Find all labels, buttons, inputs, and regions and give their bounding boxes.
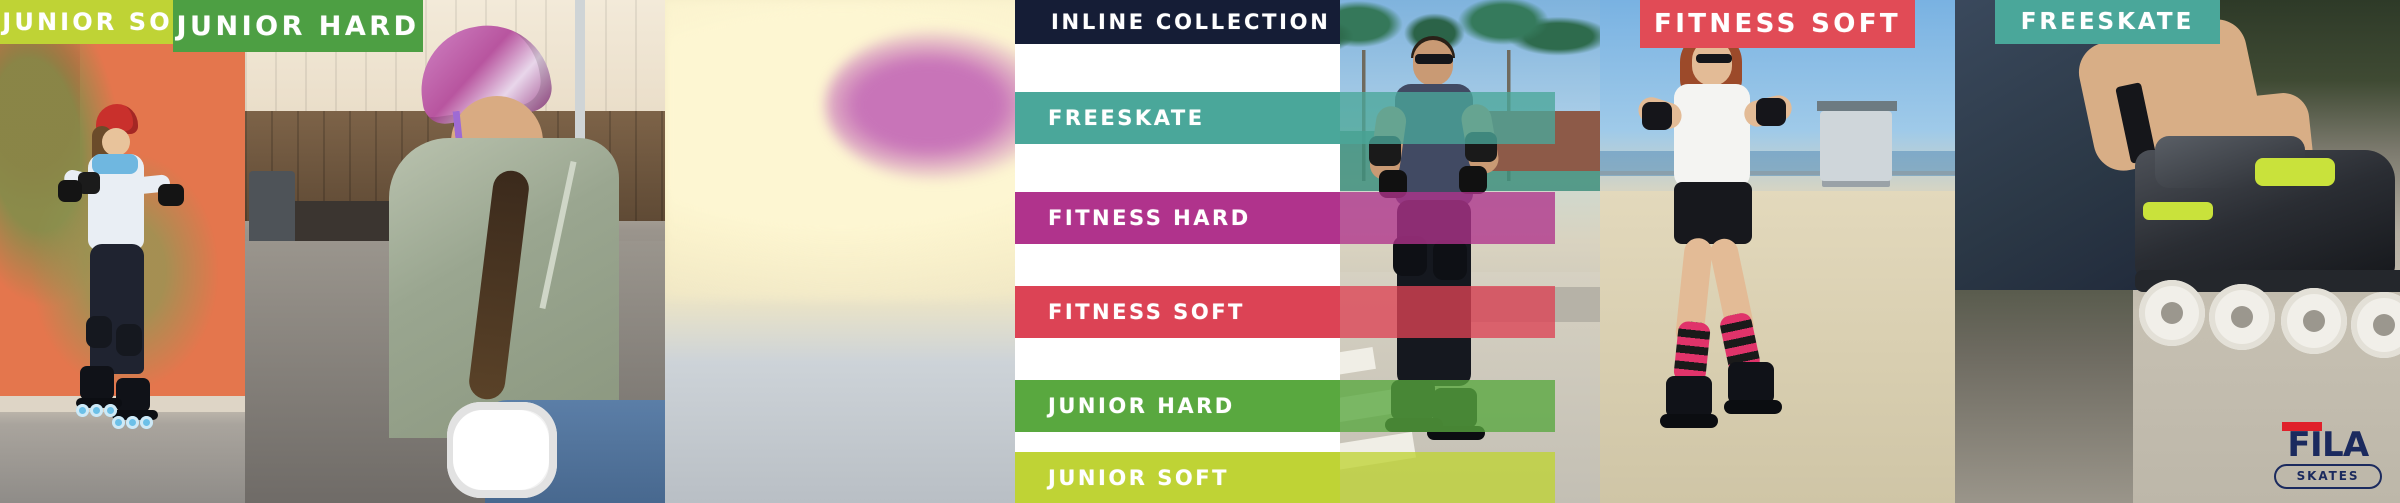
wheel — [2139, 280, 2205, 346]
menu-gap — [1015, 244, 1340, 286]
menu-item-fitness-hard[interactable]: FITNESS HARD — [1015, 192, 1251, 244]
knee-pad-right — [1433, 240, 1467, 280]
sunglasses — [1696, 54, 1732, 63]
menu-item-fill-overlay — [1340, 452, 1555, 503]
shorts — [1674, 182, 1752, 244]
elbow-pad-right — [1756, 98, 1786, 126]
wrist-guard-right — [1459, 166, 1487, 194]
collection-heading-text: INLINE COLLECTION — [1041, 10, 1331, 34]
banner-label-text: FREESKATE — [2021, 9, 2195, 35]
wheel — [140, 416, 153, 429]
banner-label-freeskate[interactable]: FREESKATE — [1995, 0, 2220, 44]
menu-item-label: JUNIOR SOFT — [1015, 466, 1229, 490]
banner-strip: JUNIOR SOFT JUNIOR HARD — [0, 0, 2400, 503]
menu-item-label: FREESKATE — [1015, 106, 1205, 130]
junior-soft-skater — [58, 80, 188, 500]
striped-sock-left — [1673, 320, 1711, 383]
wheel — [112, 416, 125, 429]
menu-item-label: JUNIOR HARD — [1015, 394, 1235, 418]
wheel — [126, 416, 139, 429]
panel-junior-hard[interactable] — [245, 0, 665, 503]
menu-item-freeskate[interactable]: FREESKATE — [1015, 92, 1205, 144]
menu-gap — [1015, 44, 1340, 92]
panel-junior-soft[interactable] — [0, 0, 245, 503]
elbow-pad-left — [1642, 102, 1672, 130]
collection-heading: INLINE COLLECTION — [1015, 0, 1340, 44]
skate-boot-left — [1666, 376, 1712, 418]
wheel — [2209, 284, 2275, 350]
knee-pad-inner — [453, 410, 549, 490]
skate-boot-right — [1728, 362, 1774, 404]
freeskate-boot — [2135, 150, 2400, 340]
lime-accent — [2255, 158, 2335, 186]
menu-gap — [1015, 144, 1340, 192]
wheel — [2281, 288, 2347, 354]
wrist-guard-left — [58, 180, 82, 202]
fila-wordmark: FILA — [2274, 432, 2382, 460]
menu-item-fitness-soft[interactable]: FITNESS SOFT — [1015, 286, 1245, 338]
panel-fitness-soft[interactable] — [1600, 0, 1955, 503]
menu-gap — [1015, 432, 1340, 452]
menu-item-fill-overlay — [1340, 286, 1555, 338]
junior-hard-skater — [395, 20, 665, 503]
menu-item-label: FITNESS HARD — [1015, 206, 1251, 230]
knee-pad-right — [116, 324, 142, 356]
wrist-guard-right — [158, 184, 184, 206]
face — [102, 128, 130, 156]
wheel — [90, 404, 103, 417]
sunglasses — [1415, 54, 1453, 64]
skate-frame-left — [1660, 414, 1718, 428]
skate-boot-right — [116, 378, 150, 412]
menu-item-fill-overlay — [1340, 92, 1555, 144]
banner-label-fitness-soft[interactable]: FITNESS SOFT — [1640, 0, 1915, 48]
skate-frame-right — [1724, 400, 1782, 414]
lime-accent-secondary — [2143, 202, 2213, 220]
knee-pad-left — [86, 316, 112, 348]
banner-label-text: JUNIOR HARD — [176, 11, 419, 42]
scarf — [92, 154, 138, 174]
fila-logo: FILA SKATES — [2274, 422, 2382, 489]
menu-item-junior-soft[interactable]: JUNIOR SOFT — [1015, 452, 1229, 503]
menu-item-fill-overlay — [1340, 380, 1555, 432]
fila-skates-text: SKATES — [2297, 469, 2360, 483]
menu-item-junior-hard[interactable]: JUNIOR HARD — [1015, 380, 1235, 432]
female-skater — [1640, 40, 1830, 503]
lifeguard-tower — [1820, 111, 1892, 181]
menu-item-fill-overlay — [1340, 192, 1555, 244]
menu-gap — [1015, 338, 1340, 380]
tshirt — [1674, 84, 1750, 188]
wheel — [76, 404, 89, 417]
skate-boot-left — [80, 366, 114, 400]
fila-skates-pill: SKATES — [2274, 464, 2382, 489]
banner-label-text: FITNESS SOFT — [1654, 9, 1901, 39]
wheel — [104, 404, 117, 417]
banner-label-junior-hard[interactable]: JUNIOR HARD — [173, 0, 423, 52]
menu-item-label: FITNESS SOFT — [1015, 300, 1245, 324]
